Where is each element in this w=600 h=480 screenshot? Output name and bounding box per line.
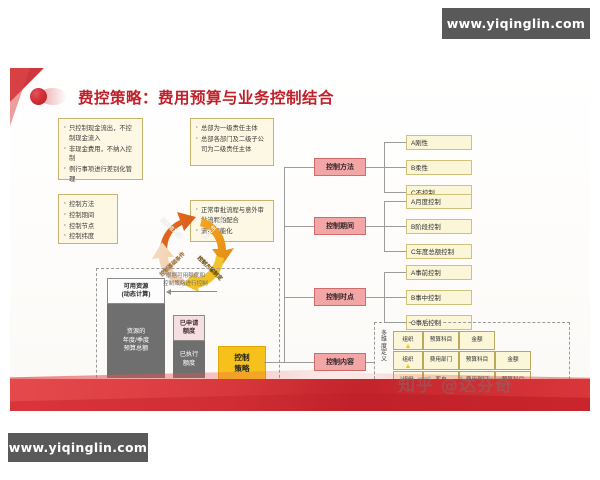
- leaf-label: B事中控制: [411, 293, 441, 302]
- tree-branch: [384, 226, 406, 227]
- leaf-control-period-b[interactable]: B阶段控制: [406, 219, 472, 234]
- tree-branch: [384, 297, 406, 298]
- executed-quota-line1: 已执行: [180, 351, 199, 359]
- leaf-control-timing-a[interactable]: A事前控制: [406, 265, 472, 280]
- decor-bottom-band: [10, 379, 590, 411]
- budget-arrow-note-line1: 根据可用额度和: [163, 273, 208, 281]
- tree-spine: [284, 167, 285, 362]
- tree-branch: [366, 226, 384, 227]
- tree-branch: [384, 251, 406, 252]
- callout-item: 只控制现金流出，不控制现金流入: [64, 124, 137, 144]
- leaf-control-period-c[interactable]: C年度总额控制: [406, 244, 472, 259]
- leaf-label: A月度控制: [411, 197, 441, 206]
- watermark-top-text: www.yiqinglin.com: [447, 16, 585, 31]
- applied-quota-box: 已申请 额度: [173, 315, 205, 341]
- decor-corner-top-left-accent: [10, 68, 30, 126]
- leaf-label: C年度总额控制: [411, 247, 454, 256]
- callout-responsibility-subject: 总部为一级责任主体 总部各部门及二级子公司为二级责任主体: [190, 118, 274, 166]
- page-title: 费控策略：费用预算与业务控制结合: [78, 86, 334, 108]
- cell: 费用部门: [423, 351, 459, 370]
- leaf-label: A事前控制: [411, 268, 441, 277]
- callout-item: 控制节点: [64, 222, 112, 232]
- executed-quota-line2: 额度: [183, 360, 195, 368]
- callout-item: 例行事项进行差别化管理: [64, 165, 137, 185]
- leaf-label: A刚性: [411, 138, 428, 147]
- available-resource-line1: 可用资源: [124, 283, 149, 291]
- slide: 费控策略：费用预算与业务控制结合 只控制现金流出，不控制现金流入 非现金费用，不…: [10, 68, 590, 411]
- available-resource-line2: (动态计算): [122, 291, 151, 299]
- dimension-definition-text: 多维度定义: [381, 331, 387, 363]
- cell: 金额: [495, 351, 531, 370]
- available-resource-box: 可用资源 (动态计算): [107, 278, 165, 304]
- tree-branch: [384, 142, 406, 143]
- tree-branch: [284, 297, 314, 298]
- callout-item: 总部各部门及二级子公司为二级责任主体: [196, 135, 268, 155]
- tree-branch: [384, 272, 406, 273]
- tree-branch: [284, 167, 314, 168]
- title-bullet-icon: [30, 88, 70, 106]
- watermark-bottom-text: www.yiqinglin.com: [9, 440, 147, 455]
- total-budget-line2: 年度/季度: [123, 337, 149, 345]
- slide-title: 费控策略：费用预算与业务控制结合: [30, 86, 334, 108]
- callout-item: 总部为一级责任主体: [196, 124, 268, 134]
- leaf-control-method-a[interactable]: A刚性: [406, 135, 472, 150]
- leaf-control-method-b[interactable]: B柔性: [406, 160, 472, 175]
- callout-item: 控制纬度: [64, 232, 112, 242]
- leaf-label: B柔性: [411, 163, 428, 172]
- applied-quota-line1: 已申请: [180, 320, 199, 328]
- callout-item: 控制方法: [64, 200, 112, 210]
- tree-stem: [264, 362, 284, 363]
- leaf-control-period-a[interactable]: A月度控制: [406, 194, 472, 209]
- table-row: 组织 费用部门 预算科目 金额: [393, 351, 531, 370]
- tree-branch: [366, 167, 384, 168]
- total-budget-box: 资源的 年度/季度 预算总额: [107, 304, 165, 378]
- node-label: 控制时点: [326, 292, 354, 302]
- tree-branch: [384, 167, 406, 168]
- node-label: 控制内容: [326, 357, 354, 367]
- callout-item: 控制期间: [64, 211, 112, 221]
- node-control-period[interactable]: 控制期间: [314, 217, 366, 235]
- leaf-control-timing-b[interactable]: B事中控制: [406, 290, 472, 305]
- budget-arrow-note: 根据可用额度和 控制策略进行控制: [163, 273, 208, 288]
- tree-branch: [366, 297, 384, 298]
- cell: 金额: [459, 331, 495, 350]
- tree-branch: [384, 201, 406, 202]
- callout-item: 非现金费用，不纳入控制: [64, 145, 137, 165]
- budget-control-arrow-icon: [167, 291, 217, 292]
- tree-branch: [284, 226, 314, 227]
- callout-control-scheme: 控制方法 控制期间 控制节点 控制纬度: [58, 194, 118, 244]
- tree-branch: [366, 362, 374, 363]
- cell: 组织: [393, 331, 423, 350]
- cell: 预算科目: [423, 331, 459, 350]
- node-control-timing[interactable]: 控制时点: [314, 288, 366, 306]
- cell: 组织: [393, 351, 423, 370]
- table-row: 组织 预算科目 金额: [393, 331, 495, 350]
- applied-quota-line2: 额度: [183, 328, 195, 336]
- node-label: 控制期间: [326, 221, 354, 231]
- node-label: 控制方法: [326, 162, 354, 172]
- watermark-top: www.yiqinglin.com: [442, 8, 590, 39]
- cell: 预算科目: [459, 351, 495, 370]
- node-control-method[interactable]: 控制方法: [314, 158, 366, 176]
- callout-control-point: 只控制现金流出，不控制现金流入 非现金费用，不纳入控制 例行事项进行差别化管理: [58, 118, 143, 180]
- tree-branch: [284, 362, 314, 363]
- total-budget-line3: 预算总额: [124, 345, 149, 353]
- tree-branch: [384, 192, 406, 193]
- dimension-definition-label: 多维度定义: [379, 331, 389, 363]
- strategy-line1: 控制: [234, 353, 249, 363]
- watermark-bottom: www.yiqinglin.com: [8, 433, 148, 462]
- leaf-label: B阶段控制: [411, 222, 441, 231]
- screenshot-root: www.yiqinglin.com www.yiqinglin.com 费控策略…: [0, 0, 600, 480]
- total-budget-line1: 资源的: [127, 328, 146, 336]
- budget-arrow-note-line2: 控制策略进行控制: [163, 281, 208, 289]
